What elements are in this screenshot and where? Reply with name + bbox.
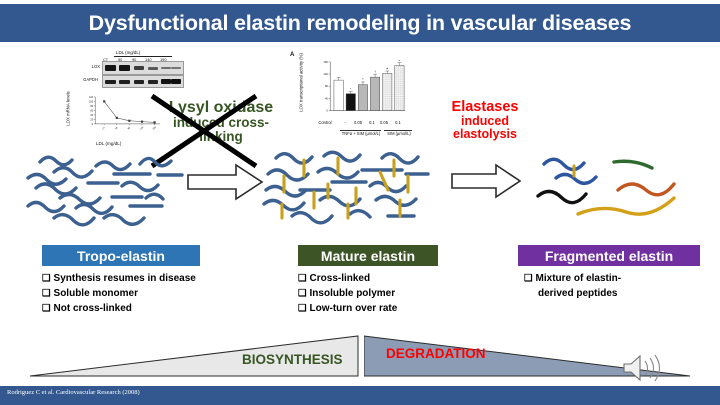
panel-letter-a: A	[290, 52, 294, 58]
label-degradation: DEGRADATION	[386, 346, 486, 361]
checkbox-icon: ❑	[42, 273, 51, 284]
blot-row-label-gapdh: GAPDH	[72, 77, 98, 82]
svg-text:†: †	[362, 77, 364, 81]
banner-label-mature-elastin: Mature elastin	[321, 248, 415, 264]
bar-group-label-sim: SIM (µmol/L)	[380, 131, 418, 136]
slide-canvas: Dysfunctional elastin remodeling in vasc…	[0, 0, 720, 405]
bullet-text: Mixture of elastin-	[536, 273, 622, 284]
illustration-fragmented-elastin-peptides	[516, 142, 716, 238]
svg-text:120: 120	[89, 97, 94, 99]
svg-text:†: †	[374, 69, 376, 73]
banner-mature-elastin: Mature elastin	[298, 245, 438, 266]
list-item: ❑Not cross-linked	[42, 302, 196, 317]
svg-text:0: 0	[92, 124, 94, 126]
svg-text:0: 0	[326, 108, 328, 112]
arrow-right-icon-2	[450, 162, 522, 200]
list-item: ❑Mixture of elastin-	[524, 272, 621, 287]
bullet-text: Cross-linked	[310, 273, 371, 284]
checkbox-icon: ❑	[42, 303, 51, 314]
svg-text:80: 80	[90, 106, 93, 108]
bar-chart-categories: Control - 0.05 0.1 0.05 0.1	[314, 120, 410, 128]
western-blot: LDL (mg/dL) CT 50 90 140 190 LOX GAPDH	[74, 50, 182, 90]
illustration-mature-elastin-crosslinked	[262, 142, 432, 238]
svg-text:#: #	[399, 60, 401, 62]
banner-fragmented-elastin: Fragmented elastin	[518, 245, 700, 266]
list-item: ❑Low-turn over rate	[298, 302, 397, 317]
bullets-fragmented-elastin: ❑Mixture of elastin- derived peptides	[524, 272, 621, 302]
svg-text:90: 90	[128, 127, 132, 131]
svg-text:100: 100	[89, 101, 94, 103]
gradient-triangles: BIOSYNTHESIS DEGRADATION	[28, 334, 692, 386]
elastase-line-1: Elastases	[420, 100, 550, 115]
svg-text:140: 140	[140, 126, 145, 130]
blot-row-label-lox: LOX	[74, 64, 100, 69]
arrow-right-icon-1	[186, 162, 264, 202]
list-item: ❑Synthesis resumes in disease	[42, 272, 196, 287]
slide-title-bar: Dysfunctional elastin remodeling in vasc…	[0, 4, 720, 42]
bar-cat-control: Control	[311, 120, 339, 125]
svg-text:50: 50	[115, 127, 119, 131]
elastase-line-2: induced	[420, 115, 550, 128]
bar-cat-01b: 0.1	[389, 120, 407, 125]
banner-label-tropoelastin: Tropo-elastin	[77, 248, 165, 264]
citation-text: Rodriguez C et al. Cardiovascular Resear…	[7, 389, 140, 396]
svg-text:*: *	[350, 87, 352, 91]
checkbox-icon: ❑	[42, 288, 51, 299]
svg-text:120: 120	[323, 72, 328, 76]
svg-text:#: #	[386, 66, 388, 70]
checkbox-icon: ❑	[298, 303, 307, 314]
bar-chart-ylabel: LOX transcriptional activity (%)	[300, 46, 305, 118]
checkbox-icon: ❑	[298, 273, 307, 284]
elastase-line-3: elastolysis	[420, 128, 550, 141]
bullet-text: Insoluble polymer	[310, 288, 396, 299]
bullet-text: Synthesis resumes in disease	[54, 273, 196, 284]
bullets-tropoelastin: ❑Synthesis resumes in disease ❑Soluble m…	[42, 272, 196, 316]
list-item: ❑Insoluble polymer	[298, 287, 397, 302]
checkbox-icon: ❑	[524, 273, 533, 284]
checkbox-icon: ❑	[298, 288, 307, 299]
figure-lox-activity-inset: A LOX transcriptional activity (%) 04080…	[288, 52, 416, 150]
blot-header-label: LDL (mg/dL)	[116, 50, 140, 55]
page-title: Dysfunctional elastin remodeling in vasc…	[89, 11, 632, 36]
svg-text:40: 40	[325, 96, 328, 100]
label-biosynthesis: BIOSYNTHESIS	[242, 352, 343, 367]
banner-label-fragmented-elastin: Fragmented elastin	[545, 248, 673, 264]
svg-text:160: 160	[323, 60, 328, 64]
svg-text:40: 40	[90, 115, 93, 117]
list-item: ❑Soluble monomer	[42, 287, 196, 302]
svg-text:60: 60	[90, 110, 93, 112]
list-item: ❑Cross-linked	[298, 272, 397, 287]
blot-row-lox	[102, 61, 184, 75]
line-chart-ylabel: LOX mRNA levels	[66, 89, 71, 129]
list-item-continuation: derived peptides	[524, 287, 621, 302]
label-elastases: Elastases induced elastolysis	[420, 100, 550, 141]
svg-text:80: 80	[325, 84, 328, 88]
bullet-text: Low-turn over rate	[310, 303, 398, 314]
svg-text:CT: CT	[102, 127, 106, 131]
bullet-text: derived peptides	[538, 288, 617, 299]
line-chart-xlabel: LDL (mg/dL)	[96, 141, 121, 146]
illustration-tropoelastin-monomers	[18, 148, 190, 240]
speaker-icon[interactable]	[620, 352, 662, 384]
bullet-text: Not cross-linked	[54, 303, 132, 314]
svg-text:20: 20	[90, 119, 93, 121]
bar-chart-plot: 04080 120160 *†† ##	[314, 60, 410, 118]
blot-row-gapdh	[102, 75, 184, 88]
banner-tropoelastin: Tropo-elastin	[42, 245, 200, 266]
bullets-mature-elastin: ❑Cross-linked ❑Insoluble polymer ❑Low-tu…	[298, 272, 397, 316]
bullet-text: Soluble monomer	[54, 288, 138, 299]
